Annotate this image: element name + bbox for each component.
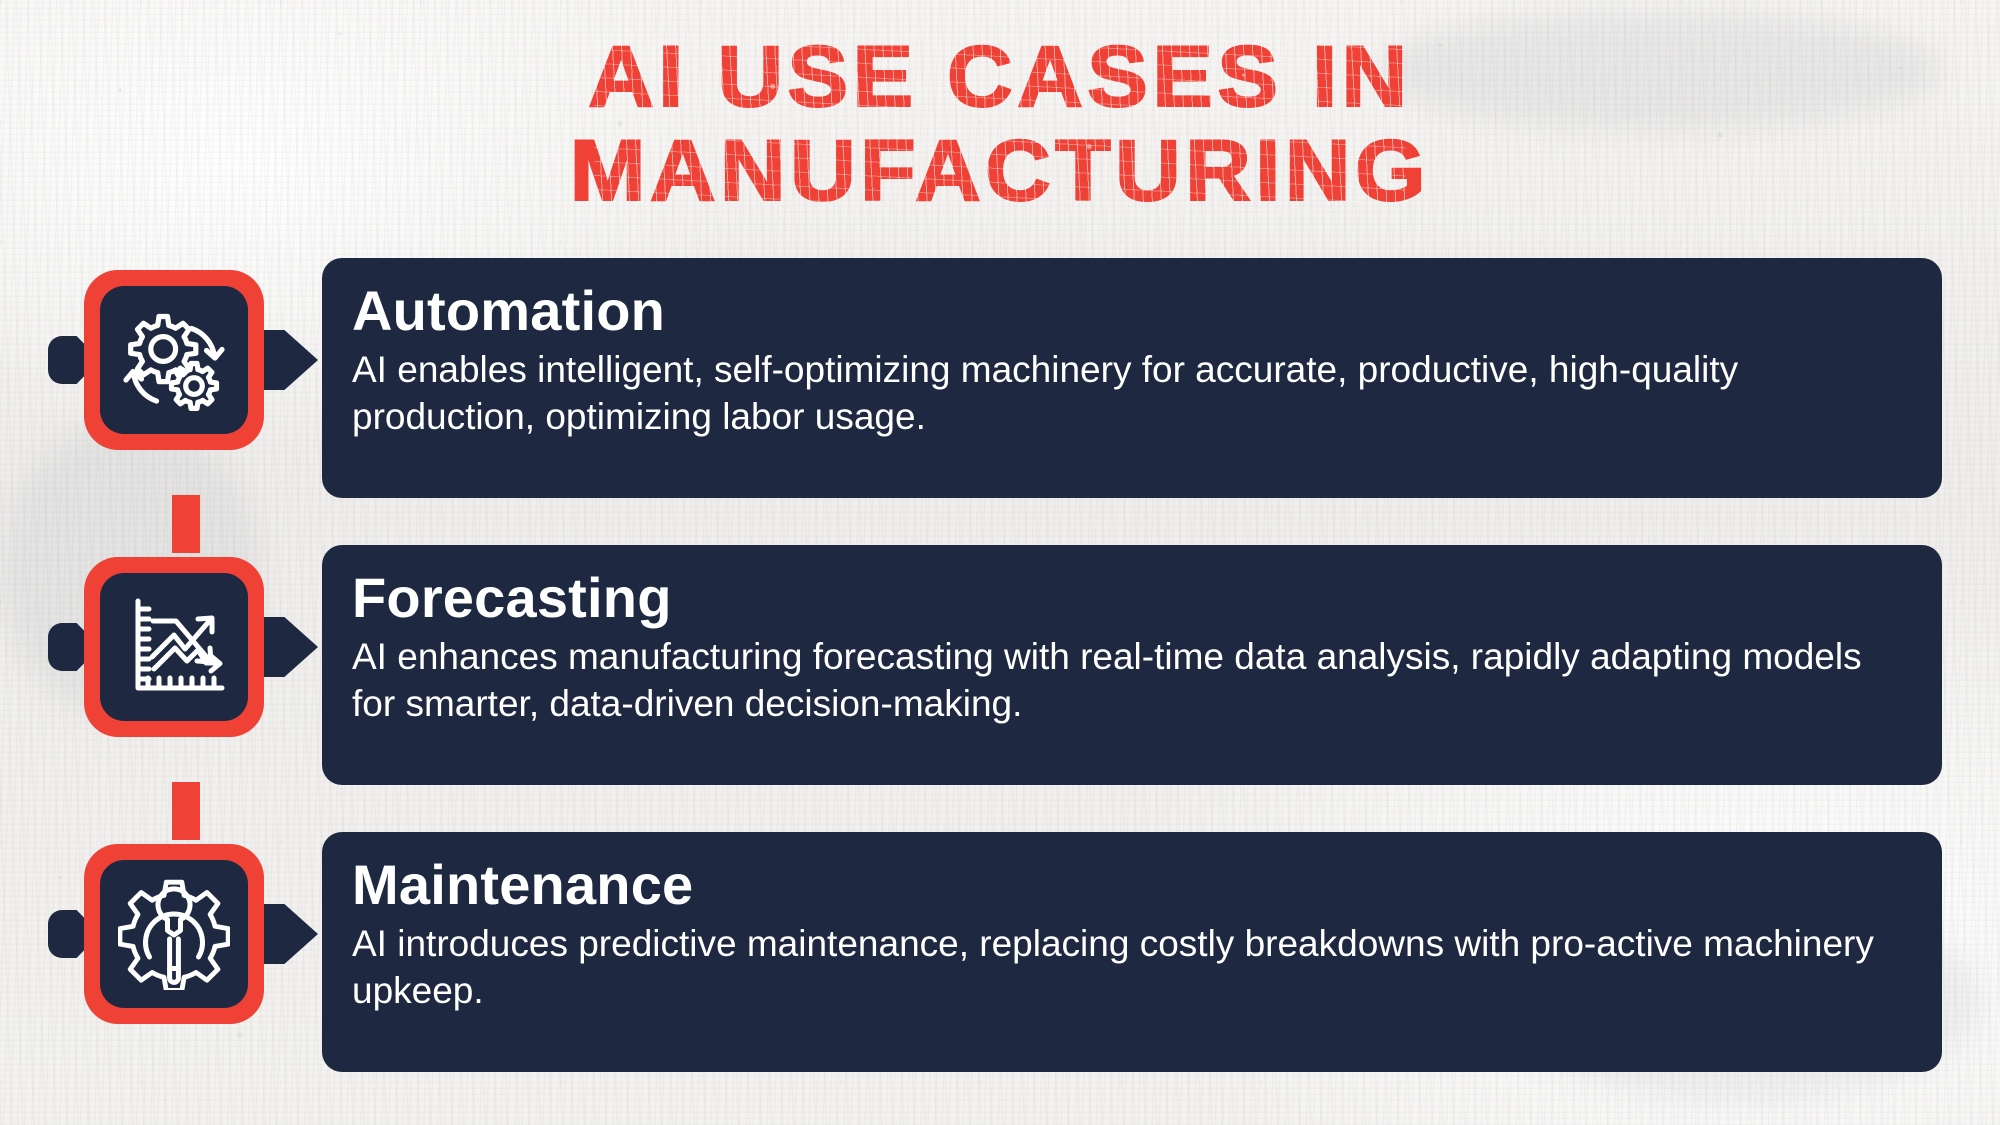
- card-automation[interactable]: Automation AI enables intelligent, self-…: [322, 258, 1942, 498]
- icon-badge-forecasting[interactable]: [84, 557, 264, 737]
- card-title: Automation: [352, 280, 1912, 342]
- page-title-line-2: MANUFACTURING: [570, 124, 1430, 218]
- card-forecasting[interactable]: Forecasting AI enhances manufacturing fo…: [322, 545, 1942, 785]
- gear-wrench-icon: [100, 860, 248, 1008]
- card-body: AI enhances manufacturing forecasting wi…: [352, 633, 1892, 727]
- list-item[interactable]: Maintenance AI introduces predictive mai…: [0, 832, 2000, 1072]
- list-item[interactable]: Forecasting AI enhances manufacturing fo…: [0, 545, 2000, 785]
- gears-cycle-icon: [100, 286, 248, 434]
- infographic-canvas: AI USE CASES IN MANUFACTURING: [0, 0, 2000, 1125]
- card-maintenance[interactable]: Maintenance AI introduces predictive mai…: [322, 832, 1942, 1072]
- page-title-line-1: AI USE CASES IN: [570, 30, 1430, 124]
- icon-badge-automation[interactable]: [84, 270, 264, 450]
- icon-badge-maintenance[interactable]: [84, 844, 264, 1024]
- card-body: AI enables intelligent, self-optimizing …: [352, 346, 1892, 440]
- forecast-chart-icon: [100, 573, 248, 721]
- card-title: Maintenance: [352, 854, 1912, 916]
- card-body: AI introduces predictive maintenance, re…: [352, 920, 1892, 1014]
- card-title: Forecasting: [352, 567, 1912, 629]
- list-item[interactable]: Automation AI enables intelligent, self-…: [0, 258, 2000, 498]
- page-title: AI USE CASES IN MANUFACTURING: [0, 30, 2000, 218]
